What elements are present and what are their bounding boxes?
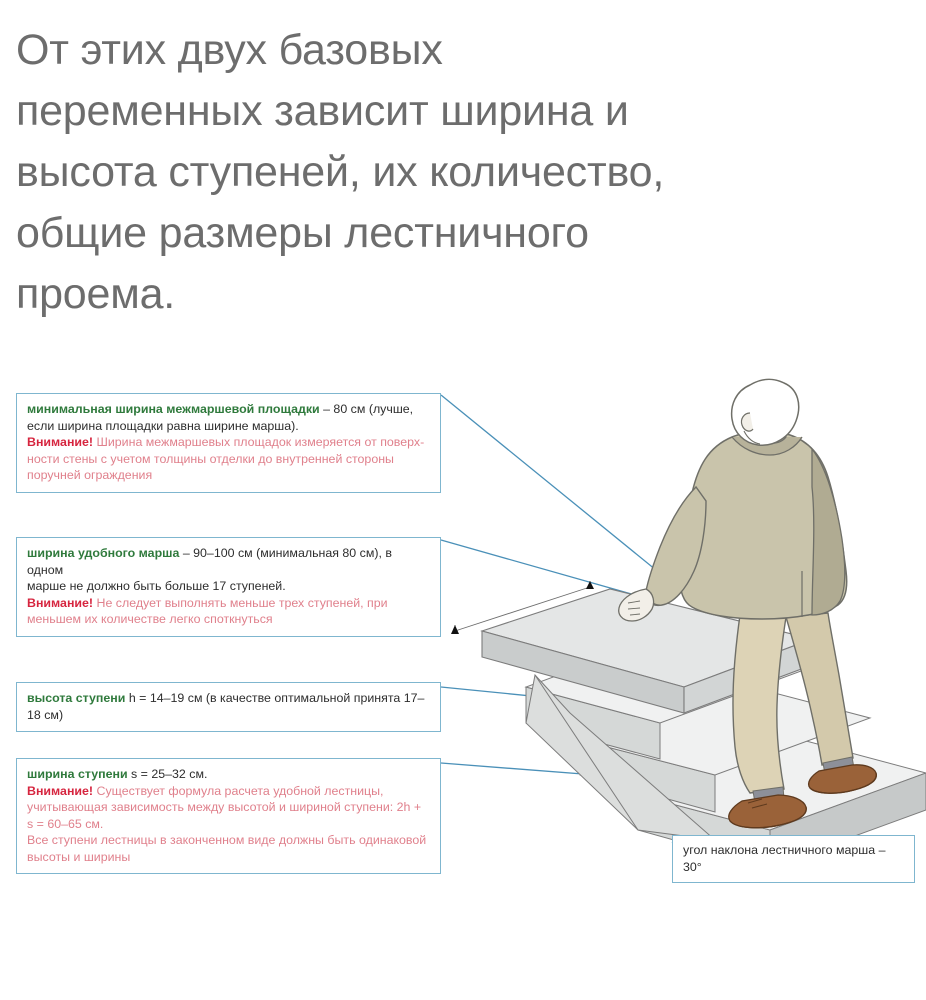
term-tail: s = 25–32 см.: [128, 767, 208, 781]
callout-warning: Внимание! Ширина межмаршевых площадок из…: [27, 434, 430, 484]
callout-line-2: марше не должно быть больше 17 ступеней.: [27, 578, 430, 595]
term-label: ширина ступени: [27, 767, 128, 781]
callout-landing-width: минимальная ширина межмаршевой площадки …: [16, 393, 441, 493]
term-label: ширина удобного марша: [27, 546, 179, 560]
stairs-illustration: [440, 375, 926, 875]
page-title: От этих двух базовых переменных зависит …: [16, 20, 910, 325]
warning-label: Внимание!: [27, 435, 93, 449]
callout-line-1: ширина удобного марша – 90–100 см (миним…: [27, 545, 430, 578]
callout-line-1: угол наклона лестничного марша – 30°: [683, 842, 904, 875]
callout-warning: Внимание! Существует формула расчета удо…: [27, 783, 430, 833]
callout-incline-angle: угол наклона лестничного марша – 30°: [672, 835, 915, 883]
callout-step-width: ширина ступени s = 25–32 см. Внимание! С…: [16, 758, 441, 874]
warning-label: Внимание!: [27, 784, 93, 798]
warning-label: Внимание!: [27, 596, 93, 610]
term-label: минимальная ширина межмаршевой площадки: [27, 402, 320, 416]
callout-line-2: если ширина площадки равна ширине марша)…: [27, 418, 430, 435]
callout-line-1: ширина ступени s = 25–32 см.: [27, 766, 430, 783]
term-label: высота ступени: [27, 691, 125, 705]
callout-march-width: ширина удобного марша – 90–100 см (миним…: [16, 537, 441, 637]
term-tail: – 80 см (лучше,: [320, 402, 413, 416]
callout-warning: Внимание! Не следует выполнять меньше тр…: [27, 595, 430, 628]
stairs-infographic: минимальная ширина межмаршевой площадки …: [0, 375, 926, 875]
callout-line-1: минимальная ширина межмаршевой площадки …: [27, 401, 430, 418]
callout-warning-2: Все ступени лестницы в законченном виде …: [27, 832, 430, 865]
callout-step-height: высота ступени h = 14–19 см (в качестве …: [16, 682, 441, 732]
callout-line-1: высота ступени h = 14–19 см (в качестве …: [27, 690, 430, 723]
